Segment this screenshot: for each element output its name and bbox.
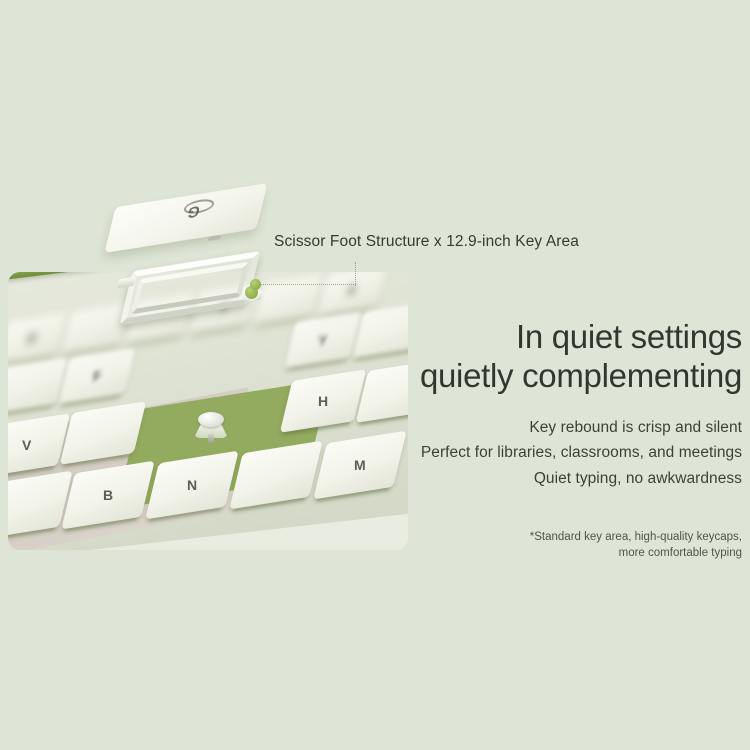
key-label: D <box>27 330 37 346</box>
callout-label: Scissor Foot Structure x 12.9-inch Key A… <box>274 233 579 251</box>
rubber-dome-switch <box>194 412 228 442</box>
leader-anchor-dot <box>250 279 261 290</box>
keycap-mount-nub <box>208 235 222 241</box>
dome-top <box>198 412 224 427</box>
exploded-keycap: G <box>110 196 262 252</box>
key-label: H <box>318 393 328 409</box>
footnote-line-1: *Standard key area, high-quality keycaps… <box>222 529 742 545</box>
leader-line-horizontal <box>258 284 356 285</box>
scissor-foot-structure <box>126 262 254 314</box>
key-label: N <box>187 477 197 493</box>
footnote-line-2: more comfortable typing <box>222 545 742 561</box>
key-label: M <box>354 457 366 473</box>
key-label: Y <box>318 332 327 348</box>
footnote: *Standard key area, high-quality keycaps… <box>222 529 742 562</box>
key-label: F <box>93 368 102 384</box>
leader-line-vertical <box>355 262 356 286</box>
key-label: V <box>22 437 31 453</box>
dome-stem <box>208 434 214 443</box>
key-label: B <box>103 487 113 503</box>
